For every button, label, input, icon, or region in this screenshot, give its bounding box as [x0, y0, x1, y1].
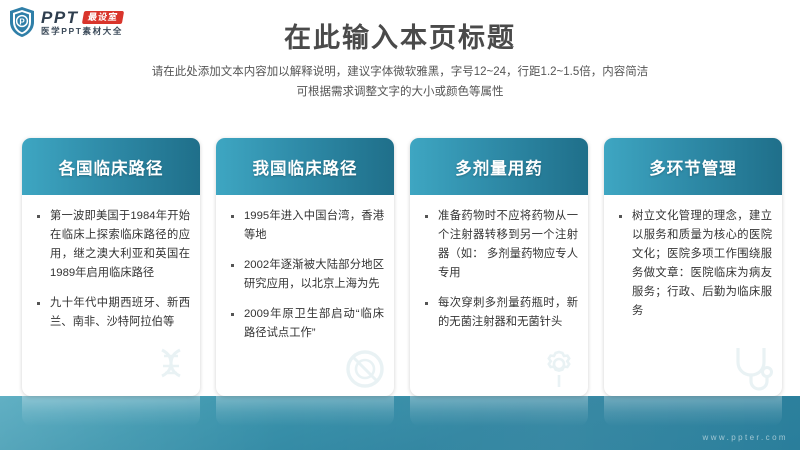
card-title: 我国临床路径 — [253, 155, 358, 179]
gear-icon — [536, 346, 582, 392]
dna-icon — [148, 346, 194, 392]
card-reflection — [22, 396, 200, 426]
card-header: 多环节管理 — [604, 138, 782, 195]
bullet-item: 2009年原卫生部启动“临床路径试点工作” — [224, 305, 384, 343]
subtitle-line-2: 可根据需求调整文字的大小或颜色等属性 — [60, 82, 740, 102]
bullet-item: 每次穿刺多剂量药瓶时，新的无菌注射器和无菌针头 — [418, 294, 578, 332]
bullet-list: 准备药物时不应将药物从一个注射器转移到另一个注射器（如： 多剂量药物应专人专用 … — [418, 207, 578, 332]
content-card[interactable]: 多环节管理 树立文化管理的理念，建立以服务和质量为核心的医院文化；医院多项工作围… — [604, 138, 782, 396]
card-reflection — [216, 396, 394, 426]
card-body: 准备药物时不应将药物从一个注射器转移到另一个注射器（如： 多剂量药物应专人专用 … — [410, 195, 588, 396]
card-header: 多剂量用药 — [410, 138, 588, 195]
content-card[interactable]: 多剂量用药 准备药物时不应将药物从一个注射器转移到另一个注射器（如： 多剂量药物… — [410, 138, 588, 396]
bullet-list: 树立文化管理的理念，建立以服务和质量为核心的医院文化；医院多项工作围绕服务做文章… — [612, 207, 772, 321]
card-reflection — [410, 396, 588, 426]
card-body: 第一波即美国于1984年开始在临床上探索临床路径的应用，继之澳大利亚和英国在19… — [22, 195, 200, 396]
card-title: 各国临床路径 — [59, 155, 164, 179]
bullet-list: 1995年进入中国台湾，香港等地 2002年逐渐被大陆部分地区研究应用，以北京上… — [224, 207, 384, 343]
stethoscope-icon — [726, 342, 776, 392]
bottom-decor-band: www.ppter.com — [0, 396, 800, 450]
card-header: 各国临床路径 — [22, 138, 200, 195]
page-title: 在此输入本页标题 — [0, 16, 800, 55]
card-title: 多环节管理 — [649, 155, 737, 179]
bullet-list: 第一波即美国于1984年开始在临床上探索临床路径的应用，继之澳大利亚和英国在19… — [30, 207, 190, 332]
card-body: 1995年进入中国台湾，香港等地 2002年逐渐被大陆部分地区研究应用，以北京上… — [216, 195, 394, 396]
slide-root: www.ppter.com P PPT 最设室 医学PPT素材大全 在此输入本页… — [0, 0, 800, 450]
page-subtitle: 请在此处添加文本内容加以解释说明，建议字体微软雅黑，字号12~24，行距1.2~… — [60, 62, 740, 102]
card-title: 多剂量用药 — [455, 155, 543, 179]
content-card[interactable]: 我国临床路径 1995年进入中国台湾，香港等地 2002年逐渐被大陆部分地区研究… — [216, 138, 394, 396]
bullet-item: 2002年逐渐被大陆部分地区研究应用，以北京上海为先 — [224, 256, 384, 294]
bullet-item: 1995年进入中国台湾，香港等地 — [224, 207, 384, 245]
pill-icon — [342, 346, 388, 392]
subtitle-line-1: 请在此处添加文本内容加以解释说明，建议字体微软雅黑，字号12~24，行距1.2~… — [60, 62, 740, 82]
content-card[interactable]: 各国临床路径 第一波即美国于1984年开始在临床上探索临床路径的应用，继之澳大利… — [22, 138, 200, 396]
card-body: 树立文化管理的理念，建立以服务和质量为核心的医院文化；医院多项工作围绕服务做文章… — [604, 195, 782, 396]
footer-website-url: www.ppter.com — [703, 433, 788, 442]
bullet-item: 准备药物时不应将药物从一个注射器转移到另一个注射器（如： 多剂量药物应专人专用 — [418, 207, 578, 283]
card-reflection — [604, 396, 782, 426]
bullet-item: 九十年代中期西班牙、新西兰、南非、沙特阿拉伯等 — [30, 294, 190, 332]
card-header: 我国临床路径 — [216, 138, 394, 195]
bullet-item: 第一波即美国于1984年开始在临床上探索临床路径的应用，继之澳大利亚和英国在19… — [30, 207, 190, 283]
bullet-item: 树立文化管理的理念，建立以服务和质量为核心的医院文化；医院多项工作围绕服务做文章… — [612, 207, 772, 321]
